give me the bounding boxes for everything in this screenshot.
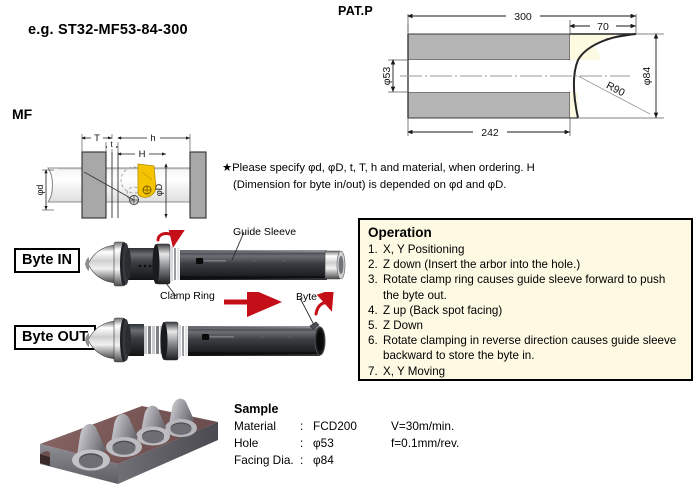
- dim-242: 242: [481, 127, 499, 139]
- operation-step: 1. X, Y Positioning: [368, 242, 683, 257]
- sample-value: φ84: [313, 452, 391, 469]
- sample-value: FCD200: [313, 418, 391, 435]
- operation-panel: Operation 1. X, Y Positioning 2. Z down …: [358, 218, 693, 381]
- operation-step-text: X, Y Positioning: [383, 242, 683, 257]
- mf-section-label: MF: [12, 106, 32, 122]
- ordering-note-line1: ★Please specify φd, φD, t, T, h and mate…: [222, 160, 692, 177]
- sample-value: φ53: [313, 435, 391, 452]
- operation-step-number: 2.: [368, 257, 383, 272]
- dim-phi53: φ53: [381, 67, 393, 86]
- sample-extra: [391, 452, 459, 469]
- dim-300: 300: [514, 11, 532, 23]
- operation-step-number: 6.: [368, 333, 383, 348]
- page-title-model-code: e.g. ST32-MF53-84-300: [28, 22, 188, 38]
- table-row: Facing Dia. : φ84: [234, 452, 459, 469]
- operation-step-number: 1.: [368, 242, 383, 257]
- dim-phi84: φ84: [641, 67, 653, 86]
- dim-phi-D: φD: [154, 183, 164, 196]
- operation-step: 2. Z down (Insert the arbor into the hol…: [368, 257, 683, 272]
- sample-colon: :: [300, 418, 313, 435]
- ordering-note-line2: (Dimension for byte in/out) is depended …: [222, 177, 692, 194]
- operation-step-text: Z up (Back spot facing): [383, 303, 683, 318]
- sample-extra: f=0.1mm/rev.: [391, 435, 459, 452]
- operation-step-text: Rotate clamp ring causes guide sleeve fo…: [383, 272, 683, 302]
- operation-step-number: 5.: [368, 318, 383, 333]
- sample-key: Facing Dia.: [234, 452, 300, 469]
- byte-in-tool-photo: [84, 230, 349, 300]
- operation-step: 7. X, Y Moving: [368, 364, 683, 379]
- dim-H: H: [139, 149, 146, 160]
- byte-out-tool-photo: [84, 292, 349, 372]
- operation-step-text: Rotate clamping in reverse direction cau…: [383, 333, 683, 363]
- dim-r90: R90: [604, 80, 627, 100]
- sample-colon: :: [300, 452, 313, 469]
- byte-in-label: Byte IN: [14, 248, 80, 273]
- dim-phi-d: φd: [35, 185, 45, 196]
- operation-step-number: 7.: [368, 364, 383, 379]
- operation-step-number: 4.: [368, 303, 383, 318]
- operation-step-text: X, Y Moving: [383, 364, 683, 379]
- operation-step: 3. Rotate clamp ring causes guide sleeve…: [368, 272, 683, 302]
- back-spot-facing-section-drawing: 300 70 242 φ53 φ84 R90: [378, 6, 688, 146]
- sample-colon: :: [300, 435, 313, 452]
- sample-spec-block: Sample Material : FCD200 V=30m/min. Hole…: [234, 400, 459, 469]
- sample-extra: V=30m/min.: [391, 418, 459, 435]
- table-row: Hole : φ53 f=0.1mm/rev.: [234, 435, 459, 452]
- sample-key: Material: [234, 418, 300, 435]
- dim-70: 70: [597, 21, 609, 33]
- sample-workpiece-photo: [22, 392, 232, 492]
- mf-sectional-drawing: φd φD T t h H: [34, 122, 214, 230]
- operation-title: Operation: [368, 225, 683, 241]
- operation-step-number: 3.: [368, 272, 383, 287]
- guide-sleeve-label: Guide Sleeve: [233, 226, 296, 238]
- patent-mark: PAT.P: [338, 4, 373, 18]
- operation-step-text: Z Down: [383, 318, 683, 333]
- operation-step: 4. Z up (Back spot facing): [368, 303, 683, 318]
- operation-step-text: Z down (Insert the arbor into the hole.): [383, 257, 683, 272]
- byte-callout-label: Byte: [296, 291, 317, 303]
- dim-h: h: [150, 133, 155, 144]
- dim-T: T: [94, 133, 100, 144]
- operation-step: 6. Rotate clamping in reverse direction …: [368, 333, 683, 363]
- table-row: Material : FCD200 V=30m/min.: [234, 418, 459, 435]
- sample-table: Material : FCD200 V=30m/min. Hole : φ53 …: [234, 418, 459, 469]
- sample-title: Sample: [234, 400, 459, 418]
- sample-key: Hole: [234, 435, 300, 452]
- ordering-note: ★Please specify φd, φD, t, T, h and mate…: [222, 160, 692, 193]
- operation-step: 5. Z Down: [368, 318, 683, 333]
